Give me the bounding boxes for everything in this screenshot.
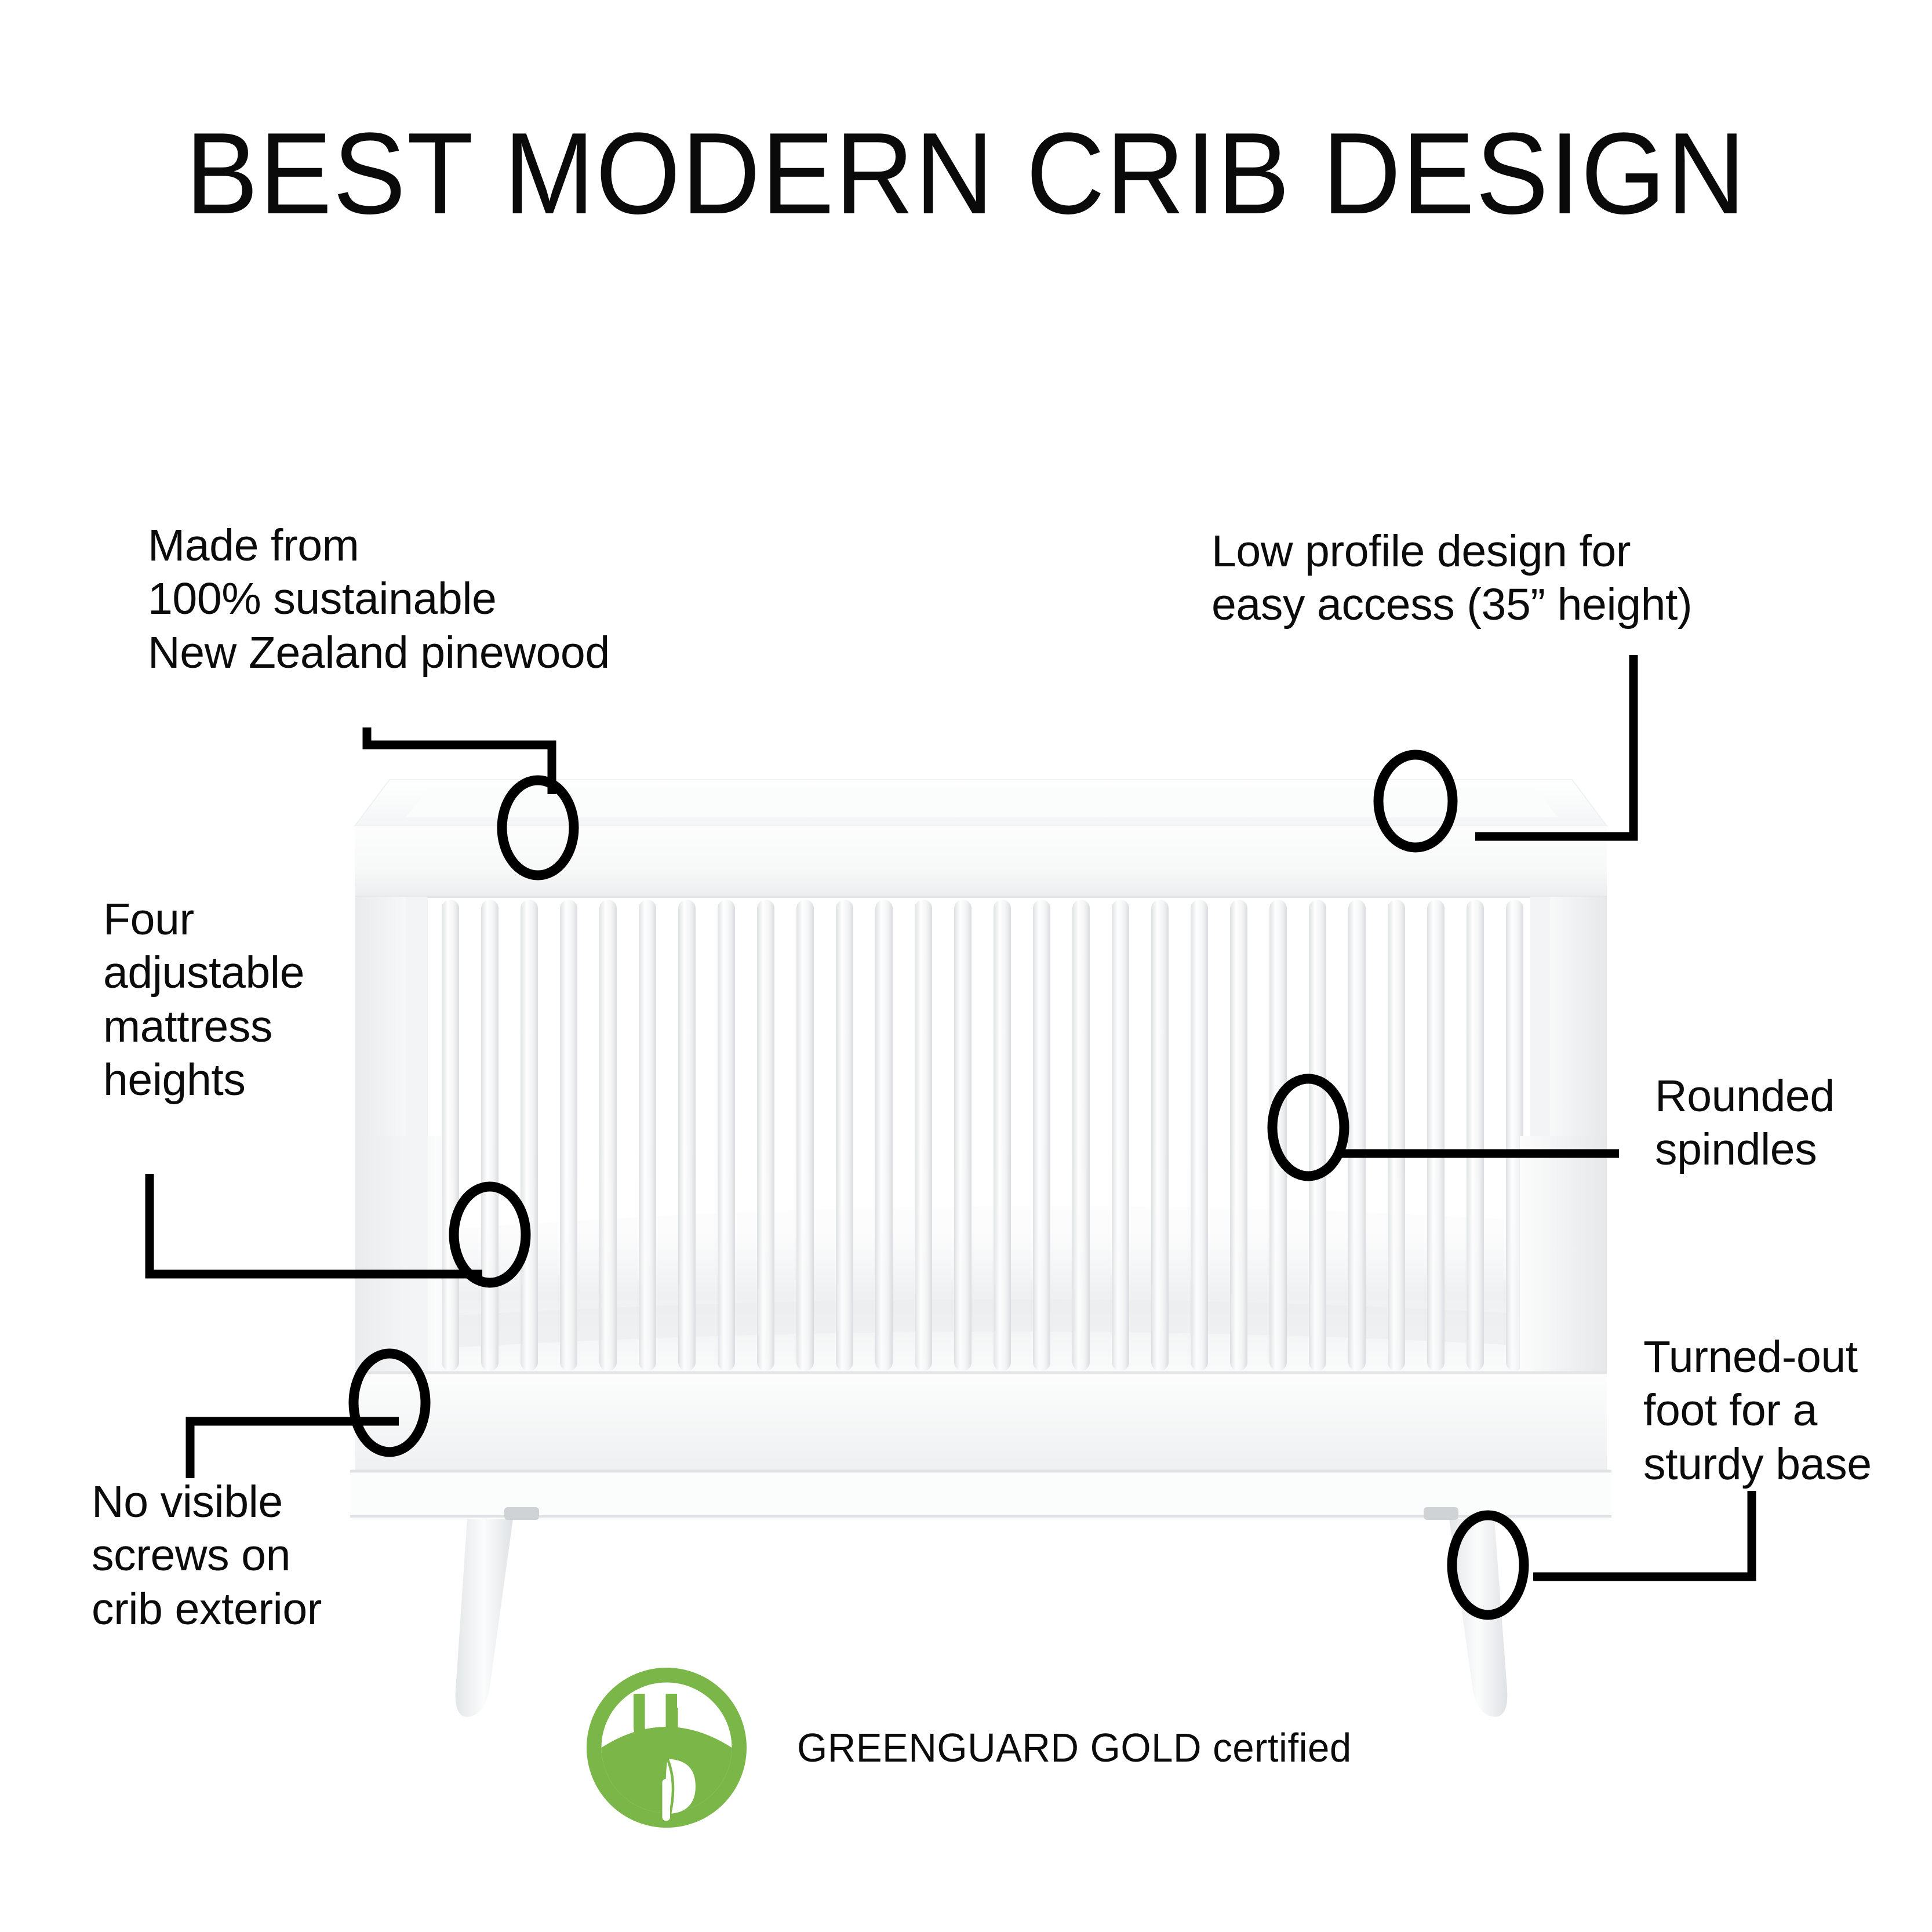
callout-no-screws: No visible screws on crib exterior [92,1475,322,1636]
marker-made-from[interactable] [502,780,574,875]
leader-line-no-screws [190,1421,399,1478]
infographic-canvas: BEST MODERN CRIB DESIGN [0,0,1932,1932]
leader-line-low-profile [1475,655,1633,836]
callout-low-profile: Low profile design for easy access (35” … [1211,525,1692,632]
callout-turned-out-foot: Turned-out foot for a sturdy base [1643,1330,1872,1491]
marker-no-screws[interactable] [354,1354,425,1452]
marker-mattress-heights[interactable] [454,1187,526,1283]
callout-rounded-spindles: Rounded spindles [1655,1069,1835,1177]
greenguard-label: GREENGUARD GOLD certified [797,1724,1352,1771]
marker-low-profile[interactable] [1378,755,1453,847]
leader-line-turned-out-foot [1533,1491,1752,1577]
greenguard-badge: GREENGUARD GOLD certified [580,1661,1375,1835]
callout-mattress-heights: Four adjustable mattress heights [103,893,304,1107]
marker-turned-out-foot[interactable] [1452,1515,1524,1615]
leader-line-mattress-heights [150,1174,482,1274]
marker-rounded-spindles[interactable] [1272,1079,1344,1176]
ul-greenguard-icon [580,1661,754,1835]
callout-made-from: Made from 100% sustainable New Zealand p… [148,519,610,679]
